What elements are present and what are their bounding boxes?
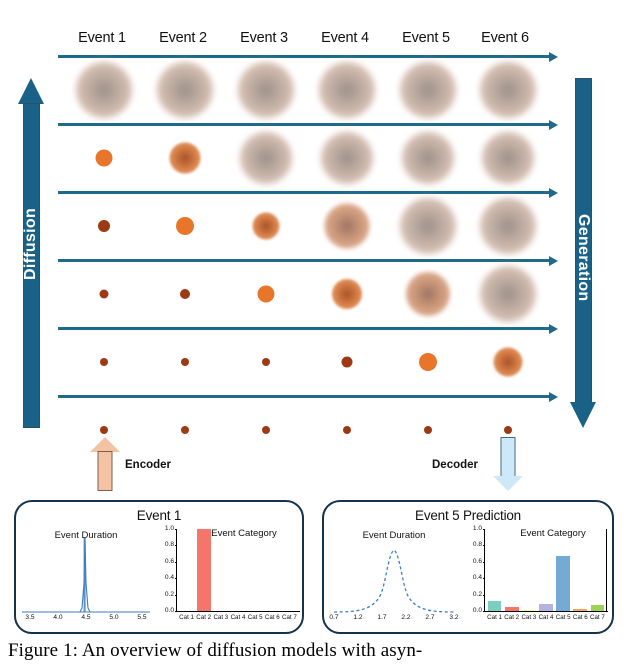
encoder-arrow [90, 437, 120, 491]
noise-node-r1-c2 [157, 62, 213, 118]
noise-node-r6-c3 [262, 426, 270, 434]
event1-category-subplot: Event Category 0.00.20.40.60.81.0 Cat 1C… [156, 526, 302, 628]
noise-node-r3-c6 [480, 198, 536, 254]
event1-category-bars [178, 529, 298, 611]
encoder-label: Encoder [125, 459, 171, 471]
noise-node-r1-c5 [400, 62, 456, 118]
decoder-arrow [493, 437, 523, 491]
y-tick-mark [483, 578, 485, 579]
y-tick-label: 0.0 [158, 607, 174, 614]
bar-6 [573, 609, 587, 611]
encoder-arrow-shaft [98, 451, 113, 491]
noise-node-grid [0, 0, 640, 460]
noise-node-r2-c5 [402, 132, 454, 184]
x-tick-label: 1.7 [372, 614, 392, 621]
noise-node-r4-c1 [100, 290, 109, 299]
noise-node-r3-c3 [253, 213, 280, 240]
decoder-label: Decoder [432, 459, 478, 471]
encoder-arrow-head-icon [90, 437, 120, 452]
y-tick-label: 1.0 [466, 525, 482, 532]
event5-category-subplot: Event Category 0.00.20.40.60.81.0 Cat 1C… [464, 526, 612, 628]
category-label-7: Cat 7 [277, 614, 301, 621]
y-tick-label: 1.0 [158, 525, 174, 532]
noise-node-r1-c3 [238, 62, 294, 118]
event1-panel-title: Event 1 [16, 508, 302, 523]
x-tick-label: 2.7 [420, 614, 440, 621]
decoder-arrow-shaft [501, 437, 516, 477]
event5-duration-plot [328, 528, 460, 628]
x-tick-label: 1.2 [348, 614, 368, 621]
noise-node-r1-c4 [319, 62, 375, 118]
y-tick-mark [483, 529, 485, 530]
bar-1 [488, 601, 502, 611]
y-tick-label: 0.8 [466, 541, 482, 548]
noise-node-r5-c3 [262, 358, 270, 366]
y-tick-mark [175, 529, 177, 530]
noise-node-r4-c6 [480, 266, 536, 322]
y-tick-label: 0.2 [466, 591, 482, 598]
diffusion-arrow-head-icon [18, 78, 44, 104]
y-tick-label: 0.4 [158, 574, 174, 581]
y-tick-mark [175, 611, 177, 612]
generation-arrow-label: Generation [574, 214, 592, 290]
noise-node-r1-c1 [76, 62, 132, 118]
noise-node-r4-c4 [332, 279, 362, 309]
noise-node-r3-c1 [98, 220, 110, 232]
event5-panel-title: Event 5 Prediction [324, 508, 612, 523]
event5-category-bars [486, 529, 606, 611]
diffusion-arrow: Diffusion [18, 78, 44, 428]
y-tick-label: 0.6 [466, 558, 482, 565]
generation-arrow: Generation [570, 78, 596, 428]
y-tick-label: 0.4 [466, 574, 482, 581]
noise-node-r2-c2 [170, 143, 201, 174]
x-tick-label: 3.5 [20, 614, 40, 621]
noise-node-r6-c6 [504, 426, 512, 434]
decoder-arrow-head-icon [493, 476, 523, 491]
y-tick-label: 0.2 [158, 591, 174, 598]
noise-node-r5-c4 [342, 357, 353, 368]
figure-caption: Figure 1: An overview of diffusion model… [8, 640, 632, 662]
noise-node-r2-c3 [240, 132, 292, 184]
x-tick-label: 5.5 [132, 614, 152, 621]
noise-node-r6-c2 [181, 426, 189, 434]
noise-node-r2-c4 [321, 132, 373, 184]
noise-node-r5-c6 [494, 348, 523, 377]
event1-x-axis [176, 611, 300, 612]
x-tick-label: 3.2 [444, 614, 464, 621]
x-tick-label: 4.0 [48, 614, 68, 621]
noise-node-r5-c5 [419, 353, 437, 371]
y-tick-mark [483, 562, 485, 563]
x-tick-label: 2.2 [396, 614, 416, 621]
y-tick-mark [175, 562, 177, 563]
x-tick-label: 5.0 [104, 614, 124, 621]
noise-node-r3-c4 [325, 204, 370, 249]
y-tick-mark [175, 578, 177, 579]
y-tick-label: 0.6 [158, 558, 174, 565]
noise-node-r5-c2 [181, 358, 189, 366]
y-tick-mark [483, 545, 485, 546]
event1-panel: Event 1 Event Duration 3.54.04.55.05.5 E… [14, 500, 304, 634]
x-tick-label: 4.5 [76, 614, 96, 621]
bar-4 [539, 604, 553, 611]
bar-3 [522, 610, 536, 611]
event5-prediction-panel: Event 5 Prediction Event Duration 0.71.2… [322, 500, 614, 634]
bar-5 [556, 556, 570, 611]
event5-duration-subplot: Event Duration 0.71.21.72.22.73.2 [328, 528, 460, 628]
y-tick-mark [175, 545, 177, 546]
bar-2 [197, 529, 211, 611]
y-tick-mark [483, 595, 485, 596]
y-tick-label: 0.8 [158, 541, 174, 548]
event1-duration-plot [20, 528, 152, 628]
x-tick-label: 0.7 [324, 614, 344, 621]
y-tick-mark [483, 611, 485, 612]
noise-node-r4-c3 [258, 286, 275, 303]
noise-node-r3-c2 [176, 217, 194, 235]
event1-duration-subplot: Event Duration 3.54.04.55.05.5 [20, 528, 152, 628]
noise-node-r6-c5 [424, 426, 432, 434]
y-tick-mark [175, 595, 177, 596]
bar-7 [591, 605, 605, 611]
category-label-7: Cat 7 [585, 614, 609, 621]
noise-node-r6-c4 [343, 426, 351, 434]
event5-right-spine [606, 529, 607, 611]
generation-arrow-head-icon [570, 402, 596, 428]
diffusion-arrow-label: Diffusion [22, 214, 40, 280]
noise-node-r4-c2 [180, 289, 190, 299]
noise-node-r1-c6 [480, 62, 536, 118]
noise-node-r3-c5 [400, 198, 456, 254]
noise-node-r6-c1 [100, 426, 108, 434]
figure-root: Event 1 Event 2 Event 3 Event 4 Event 5 … [0, 0, 640, 672]
bar-2 [505, 607, 519, 611]
event5-x-axis [484, 611, 608, 612]
noise-node-r2-c6 [482, 132, 534, 184]
noise-node-r5-c1 [100, 358, 108, 366]
noise-node-r2-c1 [96, 150, 113, 167]
y-tick-label: 0.0 [466, 607, 482, 614]
noise-node-r4-c5 [406, 272, 450, 316]
